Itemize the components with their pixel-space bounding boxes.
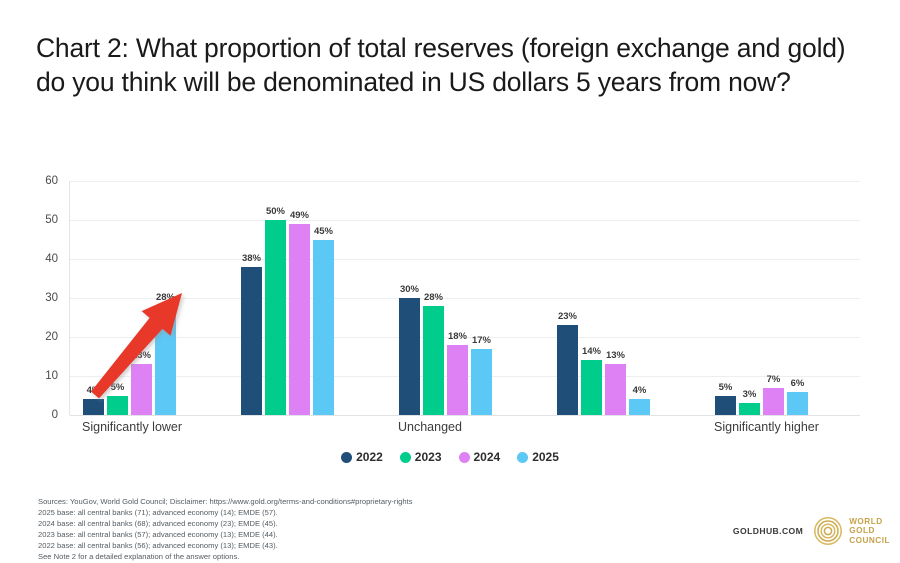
bar-value-label: 4%	[633, 385, 647, 396]
legend-item-2023[interactable]: 2023	[400, 450, 442, 464]
bar-value-label: 13%	[132, 350, 151, 361]
bar-slot: 5%	[715, 181, 736, 415]
bar-group: 30%28%18%17%	[386, 181, 544, 415]
bar-2024[interactable]	[605, 364, 626, 415]
bar-group: 23%14%13%4%	[544, 181, 702, 415]
wgc-wordmark-line: GOLD	[849, 526, 890, 535]
bar-value-label: 45%	[314, 226, 333, 237]
legend-item-2024[interactable]: 2024	[459, 450, 501, 464]
bar-value-label: 50%	[266, 206, 285, 217]
bar-chart: 0102030405060 4%5%13%28%38%50%49%45%30%2…	[0, 168, 900, 448]
footnote-line: 2024 base: all central banks (68); advan…	[38, 519, 598, 530]
y-axis-tick-label: 10	[18, 370, 58, 382]
footnote-line: 2025 base: all central banks (71); advan…	[38, 508, 598, 519]
bar-group-bars: 23%14%13%4%	[544, 181, 702, 415]
bar-slot: 4%	[83, 181, 104, 415]
x-axis-label-text: Significantly higher	[714, 420, 819, 434]
legend-color-dot	[400, 452, 411, 463]
bar-2025[interactable]	[155, 306, 176, 415]
bar-value-label: 7%	[767, 374, 781, 385]
goldhub-link[interactable]: GOLDHUB.COM	[733, 526, 803, 536]
bar-group: 38%50%49%45%	[228, 181, 386, 415]
y-axis-tick-label: 30	[18, 292, 58, 304]
legend-item-2022[interactable]: 2022	[341, 450, 383, 464]
bar-value-label: 18%	[448, 331, 467, 342]
bar-2024[interactable]	[447, 345, 468, 415]
bar-slot: 13%	[605, 181, 626, 415]
bar-slot: 23%	[557, 181, 578, 415]
bar-value-label: 38%	[242, 253, 261, 264]
bar-slot: 5%	[107, 181, 128, 415]
wgc-wordmark: WORLDGOLDCOUNCIL	[849, 517, 890, 545]
bar-2022[interactable]	[241, 267, 262, 415]
x-axis-label-empty	[544, 420, 702, 434]
footnote-line[interactable]: Sources: YouGov, World Gold Council; Dis…	[38, 497, 598, 508]
bar-2023[interactable]	[581, 360, 602, 415]
wgc-wordmark-line: COUNCIL	[849, 536, 890, 545]
chart-legend: 2022202320242025	[0, 450, 900, 464]
footnote-line: See Note 2 for a detailed explanation of…	[38, 552, 598, 563]
bar-slot: 50%	[265, 181, 286, 415]
legend-color-dot	[459, 452, 470, 463]
wgc-wordmark-line: WORLD	[849, 517, 890, 526]
x-axis-category-labels: Significantly lowerUnchangedSignificantl…	[70, 420, 860, 434]
bar-slot: 45%	[313, 181, 334, 415]
bar-value-label: 30%	[400, 284, 419, 295]
bar-slot: 3%	[739, 181, 760, 415]
bar-value-label: 13%	[606, 350, 625, 361]
bar-2025[interactable]	[629, 399, 650, 415]
x-axis-label-text: Unchanged	[398, 420, 462, 434]
bar-value-label: 14%	[582, 346, 601, 357]
bar-2023[interactable]	[739, 403, 760, 415]
footnote-line: 2022 base: all central banks (56); advan…	[38, 541, 598, 552]
bar-value-label: 17%	[472, 335, 491, 346]
legend-color-dot	[341, 452, 352, 463]
bar-slot: 13%	[131, 181, 152, 415]
bar-group-bars: 38%50%49%45%	[228, 181, 386, 415]
x-axis-label-empty	[228, 420, 386, 434]
bar-slot: 14%	[581, 181, 602, 415]
y-axis-tick-label: 60	[18, 175, 58, 187]
x-axis-label-unchanged: Unchanged	[386, 420, 544, 434]
concentric-circles-icon	[813, 516, 843, 546]
bar-value-label: 23%	[558, 311, 577, 322]
bar-2023[interactable]	[107, 396, 128, 416]
world-gold-council-logo: WORLDGOLDCOUNCIL	[813, 516, 890, 546]
x-axis-label-significantly-lower: Significantly lower	[70, 420, 228, 434]
bar-slot: 4%	[629, 181, 650, 415]
bar-2022[interactable]	[83, 399, 104, 415]
bar-value-label: 5%	[111, 382, 125, 393]
page-title: Chart 2: What proportion of total reserv…	[36, 32, 856, 100]
bar-slot: 17%	[471, 181, 492, 415]
bar-value-label: 49%	[290, 210, 309, 221]
bar-value-label: 28%	[156, 292, 175, 303]
bar-group-bars: 5%3%7%6%	[702, 181, 860, 415]
y-axis-tick-label: 50	[18, 214, 58, 226]
bar-2025[interactable]	[313, 240, 334, 416]
legend-item-2025[interactable]: 2025	[517, 450, 559, 464]
bar-2024[interactable]	[763, 388, 784, 415]
y-axis-tick-label: 40	[18, 253, 58, 265]
bar-2022[interactable]	[557, 325, 578, 415]
bar-value-label: 6%	[791, 378, 805, 389]
bar-2022[interactable]	[715, 396, 736, 416]
bar-group: 5%3%7%6%	[702, 181, 860, 415]
bar-slot: 7%	[763, 181, 784, 415]
bar-slot: 28%	[155, 181, 176, 415]
bar-slot: 6%	[787, 181, 808, 415]
gridline	[70, 415, 860, 416]
bar-slot: 49%	[289, 181, 310, 415]
legend-label: 2025	[532, 450, 559, 464]
bar-slot: 28%	[423, 181, 444, 415]
x-axis-label-text: Significantly lower	[82, 420, 182, 434]
bar-2025[interactable]	[471, 349, 492, 415]
footnotes: Sources: YouGov, World Gold Council; Dis…	[38, 497, 598, 563]
bar-value-label: 4%	[87, 385, 101, 396]
y-axis-tick-label: 0	[18, 409, 58, 421]
bar-group: 4%5%13%28%	[70, 181, 228, 415]
y-axis-tick-label: 20	[18, 331, 58, 343]
x-axis-label-significantly-higher: Significantly higher	[702, 420, 860, 434]
bar-slot: 18%	[447, 181, 468, 415]
legend-label: 2023	[415, 450, 442, 464]
bar-groups: 4%5%13%28%38%50%49%45%30%28%18%17%23%14%…	[70, 181, 860, 415]
bar-2024[interactable]	[289, 224, 310, 415]
legend-color-dot	[517, 452, 528, 463]
bar-2023[interactable]	[265, 220, 286, 415]
bar-2022[interactable]	[399, 298, 420, 415]
legend-label: 2024	[474, 450, 501, 464]
bar-2025[interactable]	[787, 392, 808, 415]
bar-2024[interactable]	[131, 364, 152, 415]
legend-label: 2022	[356, 450, 383, 464]
bar-2023[interactable]	[423, 306, 444, 415]
bar-value-label: 5%	[719, 382, 733, 393]
branding: GOLDHUB.COM WORLDGOLDCOUNCIL	[733, 516, 890, 546]
footnote-line: 2023 base: all central banks (57); advan…	[38, 530, 598, 541]
bar-value-label: 28%	[424, 292, 443, 303]
bar-group-bars: 4%5%13%28%	[70, 181, 228, 415]
bar-value-label: 3%	[743, 389, 757, 400]
bar-slot: 30%	[399, 181, 420, 415]
bar-group-bars: 30%28%18%17%	[386, 181, 544, 415]
bar-slot: 38%	[241, 181, 262, 415]
